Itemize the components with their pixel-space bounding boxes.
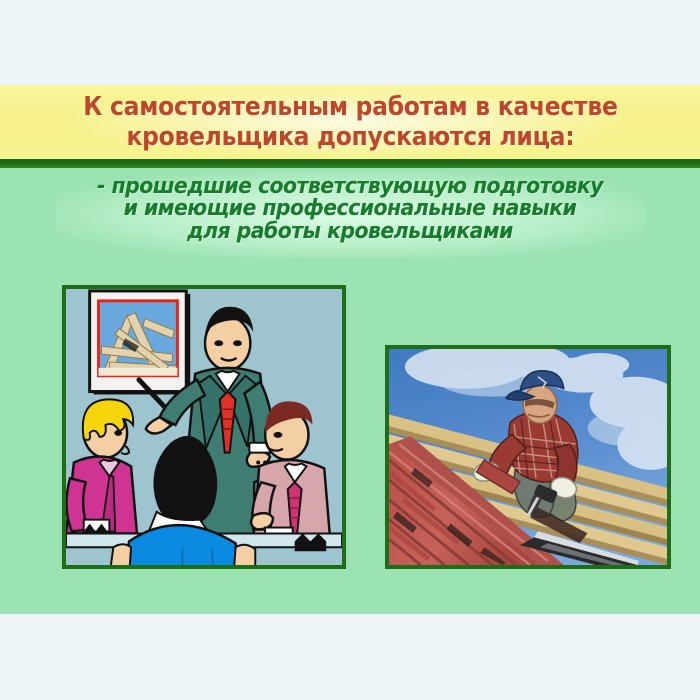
roofer-photo-graphic: [389, 349, 667, 565]
title-banner: К самостоятельным работам в качестве кро…: [0, 85, 700, 159]
top-background-band: [0, 0, 700, 85]
slide-canvas: К самостоятельным работам в качестве кро…: [0, 0, 700, 700]
training-illustration-graphic: [66, 289, 342, 565]
training-illustration: [62, 285, 346, 569]
requirements-text: - прошедшие соответствующую подготовку и…: [97, 176, 603, 243]
subtitle-block: - прошедшие соответствующую подготовку и…: [0, 176, 700, 243]
banner-divider: [0, 159, 700, 168]
page-title: К самостоятельным работам в качестве кро…: [83, 92, 617, 152]
roofer-photo: [385, 345, 671, 569]
